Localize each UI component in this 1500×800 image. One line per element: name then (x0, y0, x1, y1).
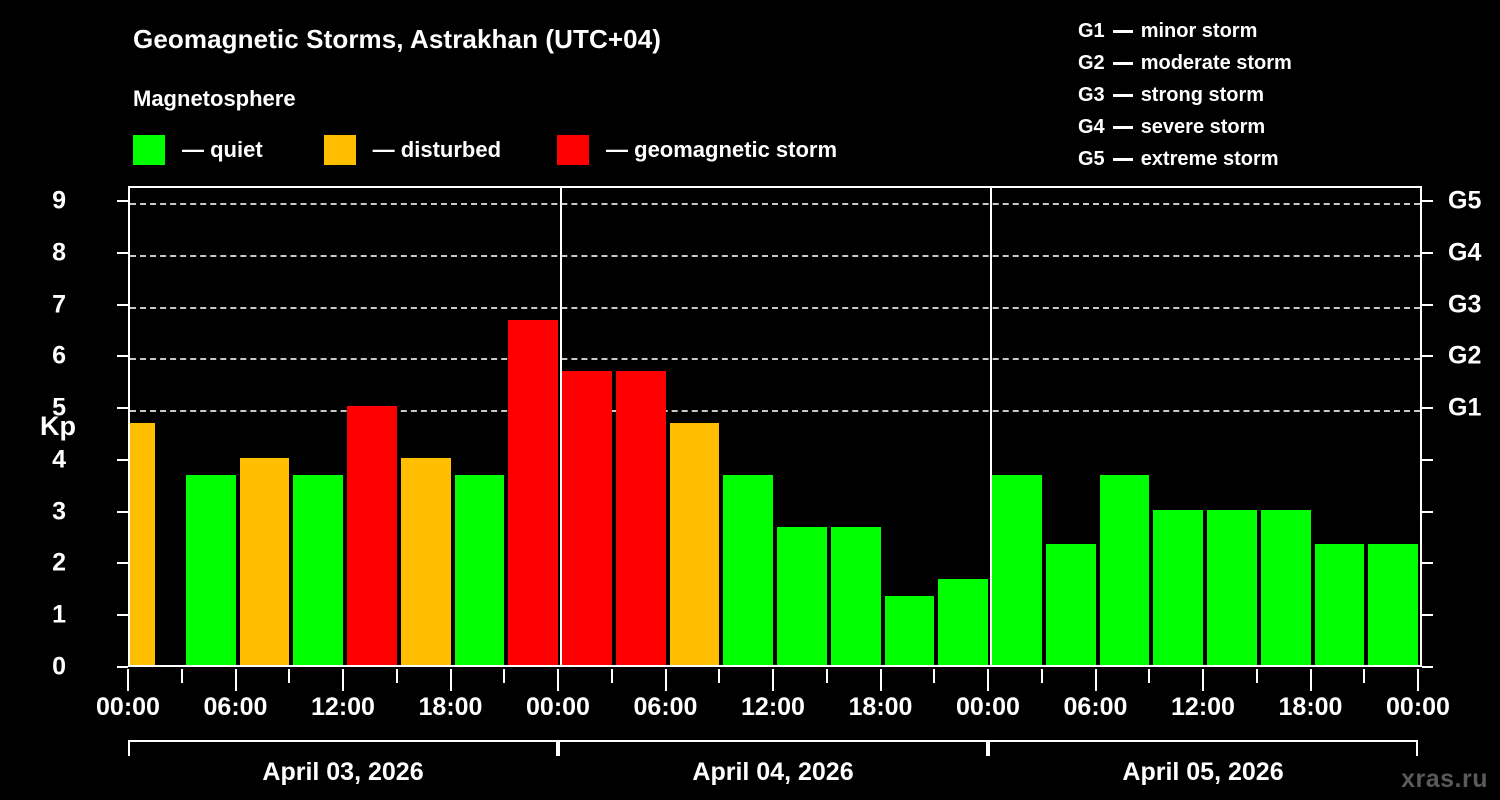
bar (1395, 596, 1418, 665)
x-tick-label: 06:00 (204, 693, 268, 722)
watermark: xras.ru (1401, 765, 1488, 794)
gscale-dash-icon (1113, 126, 1133, 129)
gscale-text: severe storm (1141, 111, 1266, 143)
g-tick (1422, 304, 1433, 306)
g-tick-minor (1422, 562, 1433, 564)
x-tick-label: 12:00 (741, 693, 805, 722)
legend-item-label: — geomagnetic storm (606, 137, 837, 163)
x-tick (1095, 669, 1097, 691)
y-tick-label: 8 (52, 238, 66, 267)
bar (723, 475, 773, 665)
g-tick-minor (1422, 666, 1433, 668)
day-band (128, 740, 558, 756)
bar (130, 423, 155, 665)
day-separator (990, 188, 992, 665)
day-band (558, 740, 988, 756)
bar (1207, 510, 1257, 665)
gscale-code: G2 (1078, 47, 1105, 79)
g-tick-minor (1422, 614, 1433, 616)
x-tick (880, 669, 882, 691)
gscale-legend: G1minor stormG2moderate stormG3strong st… (1078, 15, 1292, 175)
legend-item-1: — disturbed (324, 135, 501, 165)
x-tick (1417, 669, 1419, 691)
g-tick (1422, 407, 1433, 409)
x-tick-label: 18:00 (1279, 693, 1343, 722)
x-tick (127, 669, 129, 691)
x-tick (611, 669, 613, 683)
y-tick (117, 562, 128, 564)
x-tick (342, 669, 344, 691)
x-tick (503, 669, 505, 683)
x-tick (826, 669, 828, 683)
bar (455, 475, 505, 665)
bar (186, 475, 236, 665)
bar (1046, 544, 1096, 665)
gscale-text: extreme storm (1141, 143, 1279, 175)
bar (670, 423, 720, 665)
x-tick (1256, 669, 1258, 683)
g-tick-label-g5: G5 (1448, 187, 1481, 216)
x-tick-label: 00:00 (526, 693, 590, 722)
bar (508, 320, 558, 665)
gscale-code: G3 (1078, 79, 1105, 111)
x-tick (665, 669, 667, 691)
gscale-dash-icon (1113, 158, 1133, 161)
gscale-dash-icon (1113, 30, 1133, 33)
bar (1315, 544, 1365, 665)
x-tick-label: 00:00 (96, 693, 160, 722)
x-tick (235, 669, 237, 691)
quiet-swatch (133, 135, 165, 165)
x-tick (718, 669, 720, 683)
x-tick (1041, 669, 1043, 683)
gscale-line-g1: G1minor storm (1078, 15, 1292, 47)
bar (401, 458, 451, 665)
y-tick-label: 1 (52, 601, 66, 630)
gscale-line-g5: G5extreme storm (1078, 143, 1292, 175)
x-tick (181, 669, 183, 683)
x-tick (1148, 669, 1150, 683)
g-tick-minor (1422, 511, 1433, 513)
g-tick-label-g1: G1 (1448, 394, 1481, 423)
g-tick-label-g3: G3 (1448, 290, 1481, 319)
y-axis-label: Kp (40, 411, 76, 442)
y-tick (117, 614, 128, 616)
bar (992, 475, 1042, 665)
day-band-label: April 05, 2026 (1122, 758, 1283, 787)
x-tick-label: 06:00 (634, 693, 698, 722)
x-tick-label: 12:00 (1171, 693, 1235, 722)
bar (347, 406, 397, 665)
x-tick (1202, 669, 1204, 691)
y-tick-label: 4 (52, 445, 66, 474)
gscale-line-g2: G2moderate storm (1078, 47, 1292, 79)
gscale-dash-icon (1113, 94, 1133, 97)
bar (938, 579, 988, 665)
day-separator (560, 188, 562, 665)
x-tick-label: 00:00 (1386, 693, 1450, 722)
g-tick (1422, 252, 1433, 254)
y-tick (117, 200, 128, 202)
plot-area (128, 186, 1422, 667)
day-band-label: April 03, 2026 (262, 758, 423, 787)
g-tick-minor (1422, 459, 1433, 461)
x-tick (772, 669, 774, 691)
color-legend: — quiet— disturbed— geomagnetic storm (133, 133, 837, 167)
y-tick-label: 2 (52, 549, 66, 578)
g-tick (1422, 200, 1433, 202)
legend-item-2: — geomagnetic storm (557, 135, 837, 165)
bar (777, 527, 827, 665)
x-tick (288, 669, 290, 683)
gscale-dash-icon (1113, 62, 1133, 65)
bar-series (130, 188, 1420, 665)
bar (1153, 510, 1203, 665)
g-tick-label-g4: G4 (1448, 238, 1481, 267)
chart-page: Geomagnetic Storms, Astrakhan (UTC+04) M… (0, 0, 1500, 800)
legend-heading: Magnetosphere (133, 86, 296, 112)
x-tick-label: 00:00 (956, 693, 1020, 722)
x-tick (987, 669, 989, 691)
x-tick (933, 669, 935, 683)
gscale-line-g4: G4severe storm (1078, 111, 1292, 143)
bar (293, 475, 343, 665)
bar (562, 371, 612, 665)
legend-item-0: — quiet (133, 135, 263, 165)
y-tick (117, 407, 128, 409)
gscale-line-g3: G3strong storm (1078, 79, 1292, 111)
x-tick-label: 06:00 (1064, 693, 1128, 722)
x-tick (450, 669, 452, 691)
x-tick-label: 18:00 (419, 693, 483, 722)
legend-item-label: — quiet (182, 137, 263, 163)
y-tick-label: 6 (52, 342, 66, 371)
y-tick (117, 459, 128, 461)
y-tick (117, 355, 128, 357)
gscale-code: G5 (1078, 143, 1105, 175)
g-tick-label-g2: G2 (1448, 342, 1481, 371)
day-bands: April 03, 2026April 04, 2026April 05, 20… (128, 740, 1422, 800)
page-title: Geomagnetic Storms, Astrakhan (UTC+04) (133, 24, 661, 55)
day-band-label: April 04, 2026 (692, 758, 853, 787)
x-tick (557, 669, 559, 691)
x-tick (1310, 669, 1312, 691)
x-tick (396, 669, 398, 683)
gscale-code: G1 (1078, 15, 1105, 47)
gscale-text: strong storm (1141, 79, 1264, 111)
bar (1100, 475, 1150, 665)
day-band (988, 740, 1418, 756)
y-tick-label: 0 (52, 653, 66, 682)
x-tick-label: 18:00 (849, 693, 913, 722)
g-tick (1422, 355, 1433, 357)
gscale-text: moderate storm (1141, 47, 1292, 79)
gscale-text: minor storm (1141, 15, 1258, 47)
y-tick-label: 7 (52, 290, 66, 319)
y-tick (117, 666, 128, 668)
y-tick (117, 511, 128, 513)
bar (240, 458, 290, 665)
plot-inner (130, 188, 1420, 665)
x-tick-label: 12:00 (311, 693, 375, 722)
bar (831, 527, 881, 665)
bar (1261, 510, 1311, 665)
disturbed-swatch (324, 135, 356, 165)
bar (616, 371, 666, 665)
y-tick-label: 3 (52, 497, 66, 526)
bar (885, 596, 935, 665)
gscale-code: G4 (1078, 111, 1105, 143)
legend-item-label: — disturbed (373, 137, 501, 163)
x-tick (1363, 669, 1365, 683)
y-tick (117, 252, 128, 254)
storm-swatch (557, 135, 589, 165)
y-tick-label: 9 (52, 187, 66, 216)
y-tick (117, 304, 128, 306)
